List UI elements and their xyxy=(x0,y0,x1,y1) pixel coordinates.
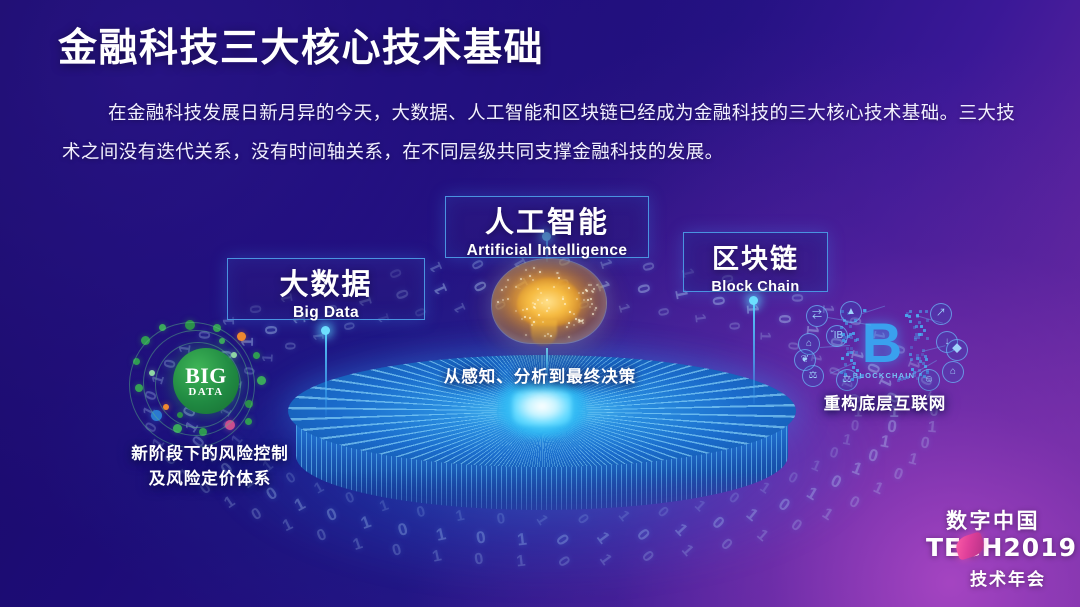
brain-neuron-dot xyxy=(532,279,534,281)
pillar-label-blockchain-cn: 区块链 xyxy=(684,242,827,276)
blockchain-orbit-icon: ❦ xyxy=(794,349,816,371)
blockchain-pixel xyxy=(915,325,918,328)
pillar-caption-bigdata: 新阶段下的风险控制 及风险定价体系 xyxy=(100,442,320,492)
brain-neuron-dot xyxy=(501,289,503,291)
big-data-node xyxy=(237,332,246,341)
big-data-node xyxy=(257,376,266,385)
pillar-label-bigdata-cn: 大数据 xyxy=(228,268,424,302)
blockchain-pixel xyxy=(920,325,923,328)
blockchain-pixel xyxy=(846,347,849,350)
blockchain-pixel xyxy=(919,310,922,313)
brain-neuron-dot xyxy=(537,299,539,301)
blockchain-pixel xyxy=(900,378,903,381)
pillar-caption-ai: 从感知、分析到最终决策 xyxy=(410,365,670,390)
logo-line-3: 技术年会 xyxy=(970,565,1046,590)
brain-neuron-dot xyxy=(505,286,507,288)
pillar-caption-bigdata-line1: 新阶段下的风险控制 xyxy=(100,442,320,467)
blockchain-pixel xyxy=(856,369,859,372)
brain-neuron-dot xyxy=(594,309,596,311)
pillar-label-ai-en: Artificial Intelligence xyxy=(446,240,648,262)
brain-neuron-dot xyxy=(533,267,535,269)
brain-neuron-dot xyxy=(520,278,522,280)
pillar-label-ai[interactable]: 人工智能 Artificial Intelligence xyxy=(445,196,649,258)
blockchain-orbit-icon: ⌂ xyxy=(942,361,964,383)
blockchain-pixel xyxy=(845,322,848,325)
blockchain-pixel xyxy=(906,312,909,315)
brain-neuron-dot xyxy=(550,335,552,337)
blockchain-pixel xyxy=(909,310,912,313)
brain-neuron-dot xyxy=(587,299,589,301)
blockchain-pixel xyxy=(855,351,858,354)
blockchain-pixel xyxy=(922,362,925,365)
blockchain-pixel xyxy=(856,338,859,341)
brain-neuron-dot xyxy=(589,306,591,308)
blockchain-pixel xyxy=(909,353,912,356)
connector-dot-bigdata xyxy=(321,326,330,335)
blockchain-pixel xyxy=(914,338,917,341)
big-data-orbit-ring xyxy=(129,322,255,448)
pillar-label-blockchain-en: Block Chain xyxy=(684,276,827,298)
blockchain-pixel xyxy=(906,376,909,379)
blockchain-pixel xyxy=(841,357,844,360)
brain-neuron-dot xyxy=(595,307,597,309)
connector-stem-blockchain xyxy=(753,300,755,404)
platform-core-highlight xyxy=(513,391,571,425)
brain-neuron-dot xyxy=(546,299,548,301)
brain-neuron-dot xyxy=(566,326,568,328)
pillar-label-bigdata-en: Big Data xyxy=(228,302,424,324)
blockchain-pixel xyxy=(850,336,853,339)
brain-neuron-dot xyxy=(522,309,524,311)
blockchain-pixel xyxy=(852,332,855,335)
blockchain-b-icon: B BLOCKCHAIN ⇄▲↗⌂ἽB↓⚖⚖⌂☺❦◆ xyxy=(796,303,966,395)
big-data-network-icon: BIG DATA xyxy=(133,318,269,442)
blockchain-orbit-icon: ☺ xyxy=(918,369,940,391)
brain-neuron-dot xyxy=(515,310,517,312)
blockchain-pixel xyxy=(916,357,919,360)
brain-neuron-dot xyxy=(591,290,593,292)
big-data-node xyxy=(253,352,260,359)
blockchain-orbit-icon: ἽB xyxy=(826,325,848,347)
blockchain-pixel xyxy=(916,354,919,357)
blockchain-pixel xyxy=(918,321,921,324)
brain-neuron-dot xyxy=(525,334,527,336)
blockchain-orbit-icon: ◆ xyxy=(946,339,968,361)
brain-neuron-dot xyxy=(526,308,528,310)
logo-line-2: TECH2019 xyxy=(926,533,1077,562)
blockchain-pixel xyxy=(909,320,912,323)
brain-neuron-dot xyxy=(537,288,539,290)
glowing-brain-icon xyxy=(487,252,611,356)
pillar-label-bigdata[interactable]: 大数据 Big Data xyxy=(227,258,425,320)
blockchain-pixel xyxy=(924,355,927,358)
brain-neuron-dot xyxy=(558,277,560,279)
blockchain-pixel xyxy=(908,315,911,318)
brain-neuron-dot xyxy=(502,299,504,301)
brain-neuron-dot xyxy=(583,299,585,301)
big-data-node xyxy=(245,418,252,425)
connector-stem-bigdata xyxy=(325,330,327,416)
brain-neuron-dot xyxy=(507,298,509,300)
brain-neuron-dot xyxy=(593,288,595,290)
pillar-caption-blockchain: 重构底层互联网 xyxy=(800,392,970,417)
logo-line-1: 数字中国 xyxy=(946,505,1040,535)
blockchain-pixel xyxy=(923,329,926,332)
blockchain-pixel xyxy=(917,336,920,339)
brain-neuron-dot xyxy=(541,302,543,304)
brain-neuron-dot xyxy=(553,286,555,288)
event-logo: 数字中国 TECH2019 技术年会 xyxy=(926,505,1066,591)
blockchain-pixel xyxy=(850,347,853,350)
blockchain-pixel xyxy=(861,374,864,377)
brain-neuron-dot xyxy=(568,287,570,289)
brain-neuron-dot xyxy=(532,302,534,304)
brain-neuron-dot xyxy=(586,290,588,292)
brain-core xyxy=(517,278,581,326)
blockchain-pixel xyxy=(925,358,928,361)
blockchain-pixel xyxy=(910,346,913,349)
brain-neuron-dot xyxy=(573,324,575,326)
brain-neuron-dot xyxy=(592,313,594,315)
blockchain-pixel xyxy=(850,351,853,354)
brain-neuron-dot xyxy=(534,303,536,305)
slide-canvas: 金融科技三大核心技术基础 在金融科技发展日新月异的今天，大数据、人工智能和区块链… xyxy=(0,0,1080,607)
brain-neuron-dot xyxy=(564,303,566,305)
brain-neuron-dot xyxy=(568,336,570,338)
blockchain-orbit-icon: ⇄ xyxy=(806,305,828,327)
blockchain-pixel xyxy=(910,358,913,361)
blockchain-pixel xyxy=(850,359,853,362)
pillar-label-blockchain[interactable]: 区块链 Block Chain xyxy=(683,232,828,292)
brain-neuron-dot xyxy=(529,275,531,277)
brain-neuron-dot xyxy=(533,321,535,323)
brain-neuron-dot xyxy=(568,322,570,324)
brain-neuron-dot xyxy=(548,307,550,309)
blockchain-pixel xyxy=(849,325,852,328)
blockchain-pixel xyxy=(852,366,855,369)
brain-neuron-dot xyxy=(540,292,542,294)
blockchain-orbit-icon: ⚖ xyxy=(836,369,858,391)
brain-neuron-dot xyxy=(521,318,523,320)
brain-neuron-dot xyxy=(590,284,592,286)
pillar-label-ai-cn: 人工智能 xyxy=(446,206,648,240)
brain-neuron-dot xyxy=(525,269,527,271)
brain-neuron-dot xyxy=(591,303,593,305)
brain-neuron-dot xyxy=(573,313,575,315)
brain-neuron-dot xyxy=(578,319,580,321)
blockchain-pixel xyxy=(926,337,929,340)
blockchain-pixel xyxy=(858,376,861,379)
pillar-caption-bigdata-line2: 及风险定价体系 xyxy=(100,467,320,492)
blockchain-pixel xyxy=(925,310,928,313)
